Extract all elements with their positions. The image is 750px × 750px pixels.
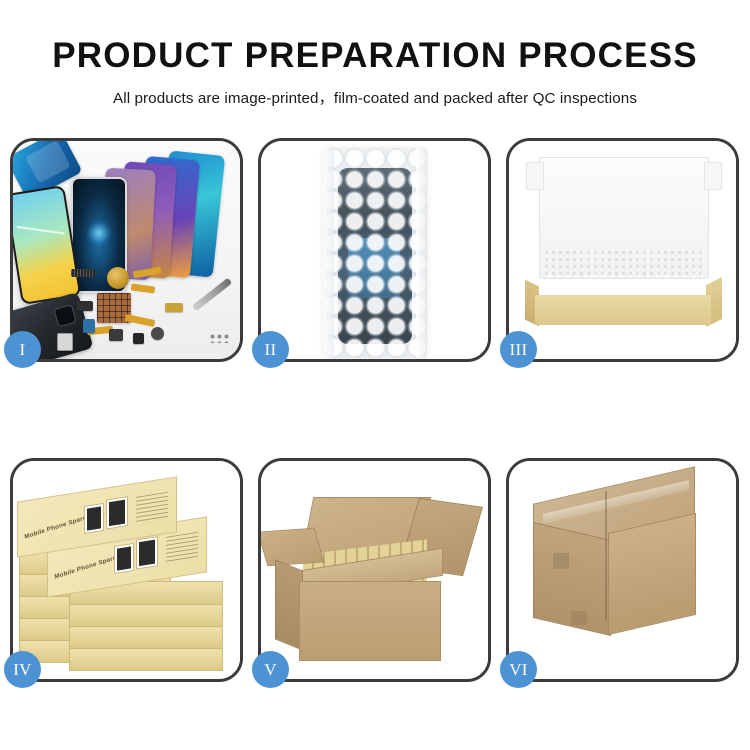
- flex-cable-icon: [131, 283, 156, 293]
- small-component-icon: [77, 301, 93, 311]
- box-spec-lines: [166, 532, 198, 565]
- step-panel-6: VI: [506, 458, 739, 682]
- step-image-2: [261, 141, 488, 359]
- box-thumbnail: [106, 496, 128, 529]
- box-thumbnail: [84, 503, 104, 534]
- step-panel-2: II: [258, 138, 491, 362]
- step-image-4: Mobile Phone Spare Parts Mobile Phone Sp…: [13, 461, 240, 679]
- step-badge-4: IV: [4, 651, 41, 688]
- step-badge-1: I: [4, 331, 41, 368]
- small-component-icon: [151, 327, 164, 340]
- step-badge-5: V: [252, 651, 289, 688]
- bag-seam-right: [416, 148, 427, 358]
- step-panel-1: I: [10, 138, 243, 362]
- bag-seam-left: [323, 148, 334, 358]
- product-preparation-infographic: PRODUCT PREPARATION PROCESS All products…: [0, 0, 750, 750]
- step-image-1: [13, 141, 240, 359]
- retail-box: [69, 647, 223, 671]
- small-component-icon: [133, 333, 144, 344]
- box-spec-lines: [136, 492, 168, 525]
- flex-cable-icon: [125, 314, 156, 327]
- carton-front-panel: [299, 581, 441, 661]
- carton-flap-left: [261, 528, 325, 567]
- step-image-3: [509, 141, 736, 359]
- retail-box: [69, 625, 223, 649]
- step-panel-5: V: [258, 458, 491, 682]
- step-badge-2: II: [252, 331, 289, 368]
- step-badge-6: VI: [500, 651, 537, 688]
- stacked-boxes-illustration: Mobile Phone Spare Parts Mobile Phone Sp…: [13, 461, 240, 679]
- page-title: PRODUCT PREPARATION PROCESS: [0, 0, 750, 76]
- step-panel-3: III: [506, 138, 739, 362]
- screws-icon: [209, 333, 231, 343]
- step-panel-4: Mobile Phone Spare Parts Mobile Phone Sp…: [10, 458, 243, 682]
- process-steps-grid: I II: [10, 138, 740, 682]
- small-component-icon: [57, 333, 73, 351]
- screwdriver-icon: [192, 278, 233, 312]
- bubble-texture: [323, 148, 427, 358]
- speaker-module-icon: [71, 269, 95, 277]
- carton-right-face: [608, 513, 696, 635]
- box-thumbnail: [114, 543, 134, 574]
- carton-edge-seam: [605, 491, 607, 621]
- carton-flap-notch: [571, 611, 587, 625]
- phones-and-parts-illustration: [13, 141, 240, 359]
- step-image-5: [261, 461, 488, 679]
- small-component-icon: [83, 319, 95, 333]
- small-component-icon: [109, 329, 123, 341]
- step-image-6: [509, 461, 736, 679]
- open-inner-box-illustration: [509, 141, 736, 359]
- step-badge-3: III: [500, 331, 537, 368]
- carton-flap-notch: [553, 553, 569, 569]
- box-thumbnail: [136, 536, 158, 569]
- sealed-carton-illustration: [509, 461, 736, 679]
- retail-box: [69, 603, 223, 627]
- box-front-panel: [535, 295, 711, 325]
- bubble-wrap-bag: [323, 148, 427, 358]
- header: PRODUCT PREPARATION PROCESS All products…: [0, 0, 750, 108]
- page-subtitle: All products are image-printed，film-coat…: [0, 76, 750, 108]
- open-carton-illustration: [261, 461, 488, 679]
- speaker-coil-icon: [107, 267, 129, 289]
- small-component-icon: [165, 303, 183, 312]
- bubble-wrap-illustration: [261, 141, 488, 359]
